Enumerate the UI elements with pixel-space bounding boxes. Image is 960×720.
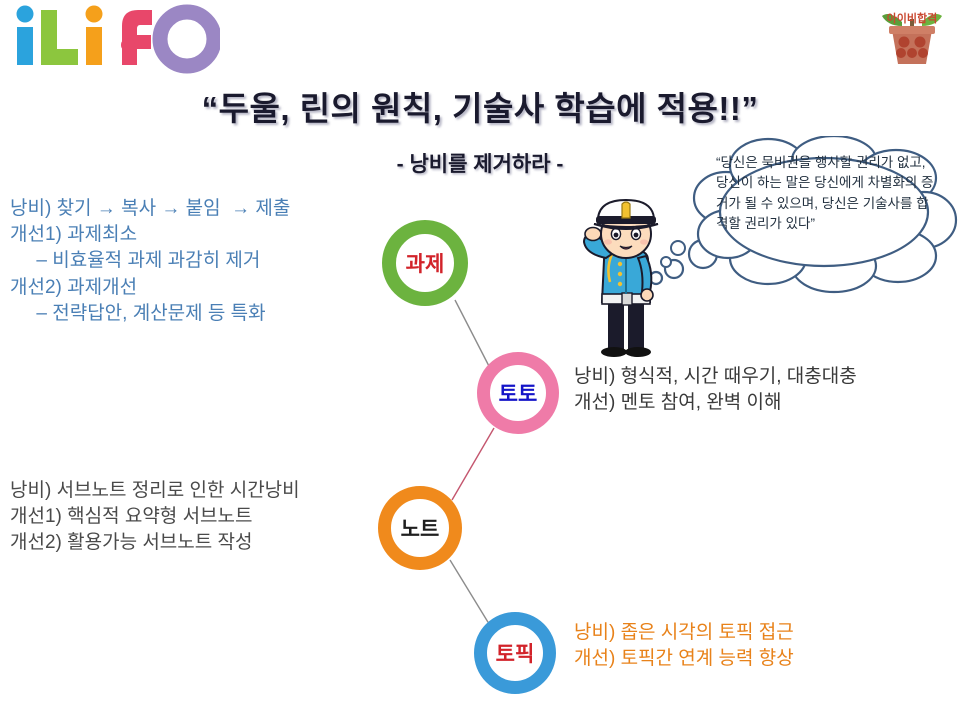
ilifo-logo xyxy=(10,4,220,74)
note-notes-text: 낭비) 서브노트 정리로 인한 시간낭비 개선1) 핵심적 요약형 서브노트 개… xyxy=(10,478,300,557)
page-title: “두울, 린의 원칙, 기술사 학습에 적용!!” xyxy=(0,82,960,130)
node-task[interactable]: 과제 xyxy=(382,220,468,306)
node-topic-label: 토픽 xyxy=(496,638,535,668)
node-topic[interactable]: 토픽 xyxy=(474,612,556,694)
node-note[interactable]: 노트 xyxy=(378,486,462,570)
topic-notes-text: 낭비) 좁은 시각의 토픽 접근 개선) 토픽간 연계 능력 향상 xyxy=(574,620,794,672)
connector-toto-note xyxy=(452,428,494,500)
saluting-police-officer-icon xyxy=(562,196,690,358)
node-toto-label: 토토 xyxy=(499,378,538,408)
svg-text:아이비합격: 아이비합격 xyxy=(887,11,938,25)
flowerpot-logo-icon: 아이비합격 xyxy=(866,2,958,72)
node-task-label: 과제 xyxy=(406,248,445,278)
connector-task-toto xyxy=(455,300,492,372)
toto-notes-text: 낭비) 형식적, 시간 때우기, 대충대충 개선) 멘토 참여, 완벽 이해 xyxy=(574,364,857,416)
task-notes-text: 낭비) 찾기 → 복사 → 붙임 → 제출 개선1) 과제최소 – 비효율적 과… xyxy=(10,196,290,327)
node-note-label: 노트 xyxy=(401,513,440,543)
thought-bubble-text: “당신은 묵비권을 행사할 권리가 없고, 당신이 하는 말은 당신에게 차별화… xyxy=(716,153,940,234)
node-toto[interactable]: 토토 xyxy=(477,352,559,434)
slide-canvas: 아이비합격 “두울, 린의 원칙, 기술사 학습에 적용!!” - 낭비를 제거… xyxy=(0,0,960,720)
